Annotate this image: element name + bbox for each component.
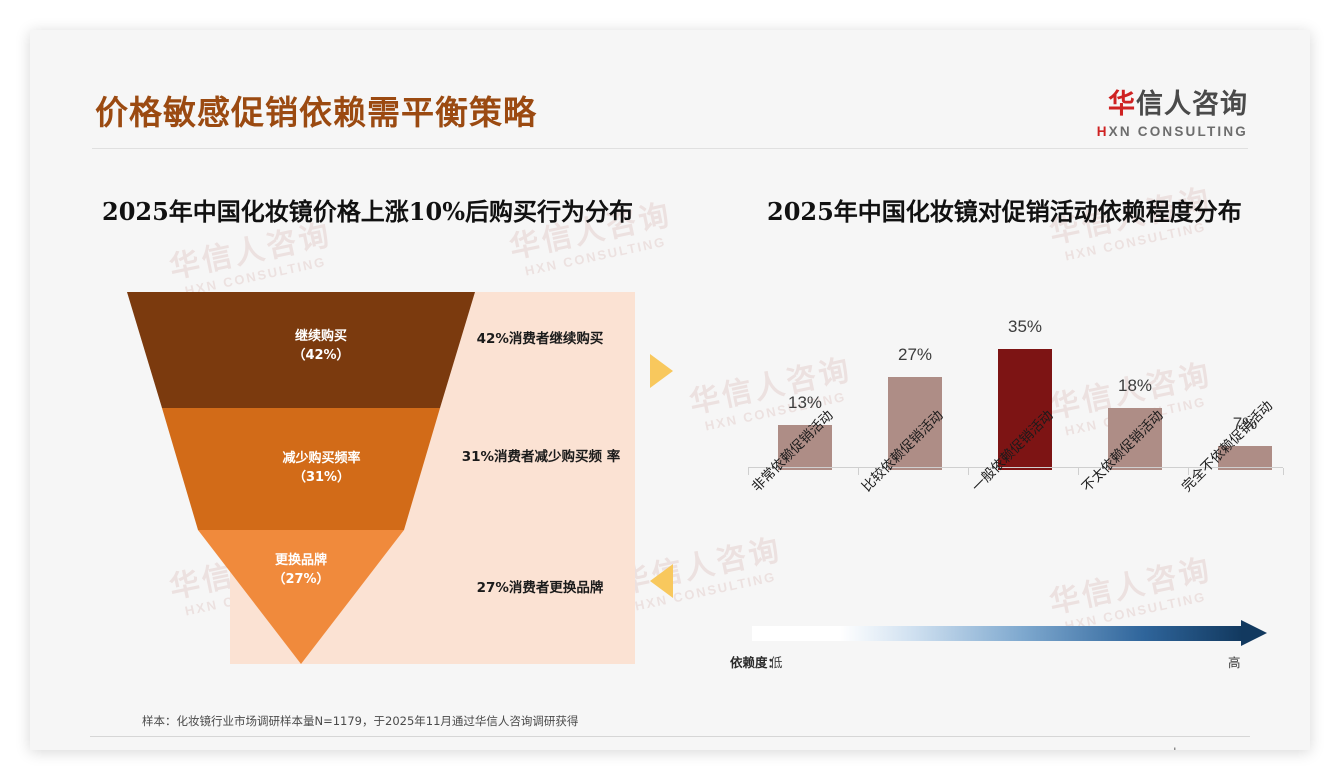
arrow-right-icon (1241, 620, 1267, 646)
bar-value-4: 18% (1098, 376, 1172, 396)
website-url[interactable]: www.hxrcon.com (1144, 746, 1238, 750)
logo-rest-chars: 信人咨询 (1136, 89, 1248, 120)
copyright-text: ©2026.1 HXR华信人咨询 (102, 746, 251, 750)
legend-low-label: 低 (770, 652, 783, 671)
logo-english: HXN CONSULTING (1097, 124, 1248, 139)
logo-en-accent: H (1097, 124, 1109, 139)
funnel-chart: 继续购买 （42%） 减少购买频率 （31%） 更换品牌 （27%） 42%消费… (127, 292, 635, 664)
slide-canvas: 华信人咨询HXN CONSULTING 华信人咨询HXN CONSULTING … (30, 30, 1310, 750)
gradient-bar (752, 626, 1242, 641)
funnel-segment-3 (198, 530, 404, 664)
axis-tick (1078, 468, 1079, 475)
funnel-annotation-2: 31%消费者减少购买频 率 (447, 446, 635, 470)
sample-footnote: 样本：化妆镜行业市场调研样本量N=1179，于2025年11月通过华信人咨询调研… (142, 713, 578, 729)
bar-value-1: 13% (768, 393, 842, 413)
gradient-arrow (752, 620, 1279, 646)
header-divider (92, 148, 1248, 149)
brand-logo: 华信人咨询 HXN CONSULTING (1097, 82, 1248, 139)
axis-tick (1283, 468, 1284, 475)
watermark: 华信人咨询HXN CONSULTING (167, 218, 339, 301)
funnel-segment-label-3: 更换品牌 （27%） (211, 552, 391, 590)
legend-high-label: 高 (1228, 652, 1241, 671)
logo-chinese: 华信人咨询 (1097, 82, 1248, 121)
axis-tick (858, 468, 859, 475)
triangle-left-icon (650, 564, 673, 598)
funnel-segment-label-1: 继续购买 （42%） (231, 328, 411, 366)
triangle-right-icon (650, 354, 673, 388)
bar-chart: 13% 27% 35% 18% 7% 非常依赖促销活动 比较依赖促销活动 一般依… (730, 285, 1300, 645)
axis-tick (748, 468, 749, 475)
funnel-segment-label-2: 减少购买频率 （31%） (209, 450, 434, 488)
logo-en-rest: XN CONSULTING (1109, 124, 1248, 139)
footer-divider (90, 736, 1250, 737)
axis-tick (968, 468, 969, 475)
bar-value-3: 35% (988, 317, 1062, 337)
left-chart-title: 2025年中国化妆镜价格上涨10%后购买行为分布 (102, 192, 633, 227)
page-title: 价格敏感促销依赖需平衡策略 (95, 86, 537, 134)
funnel-annotation-1: 42%消费者继续购买 (445, 328, 635, 352)
logo-accent-char: 华 (1108, 89, 1136, 120)
funnel-annotation-3: 27%消费者更换品牌 (445, 577, 635, 601)
dependency-gradient-legend: 依赖度： 低 高 (730, 620, 1300, 680)
right-chart-title: 2025年中国化妆镜对促销活动依赖程度分布 (767, 192, 1242, 227)
bar-value-2: 27% (878, 345, 952, 365)
